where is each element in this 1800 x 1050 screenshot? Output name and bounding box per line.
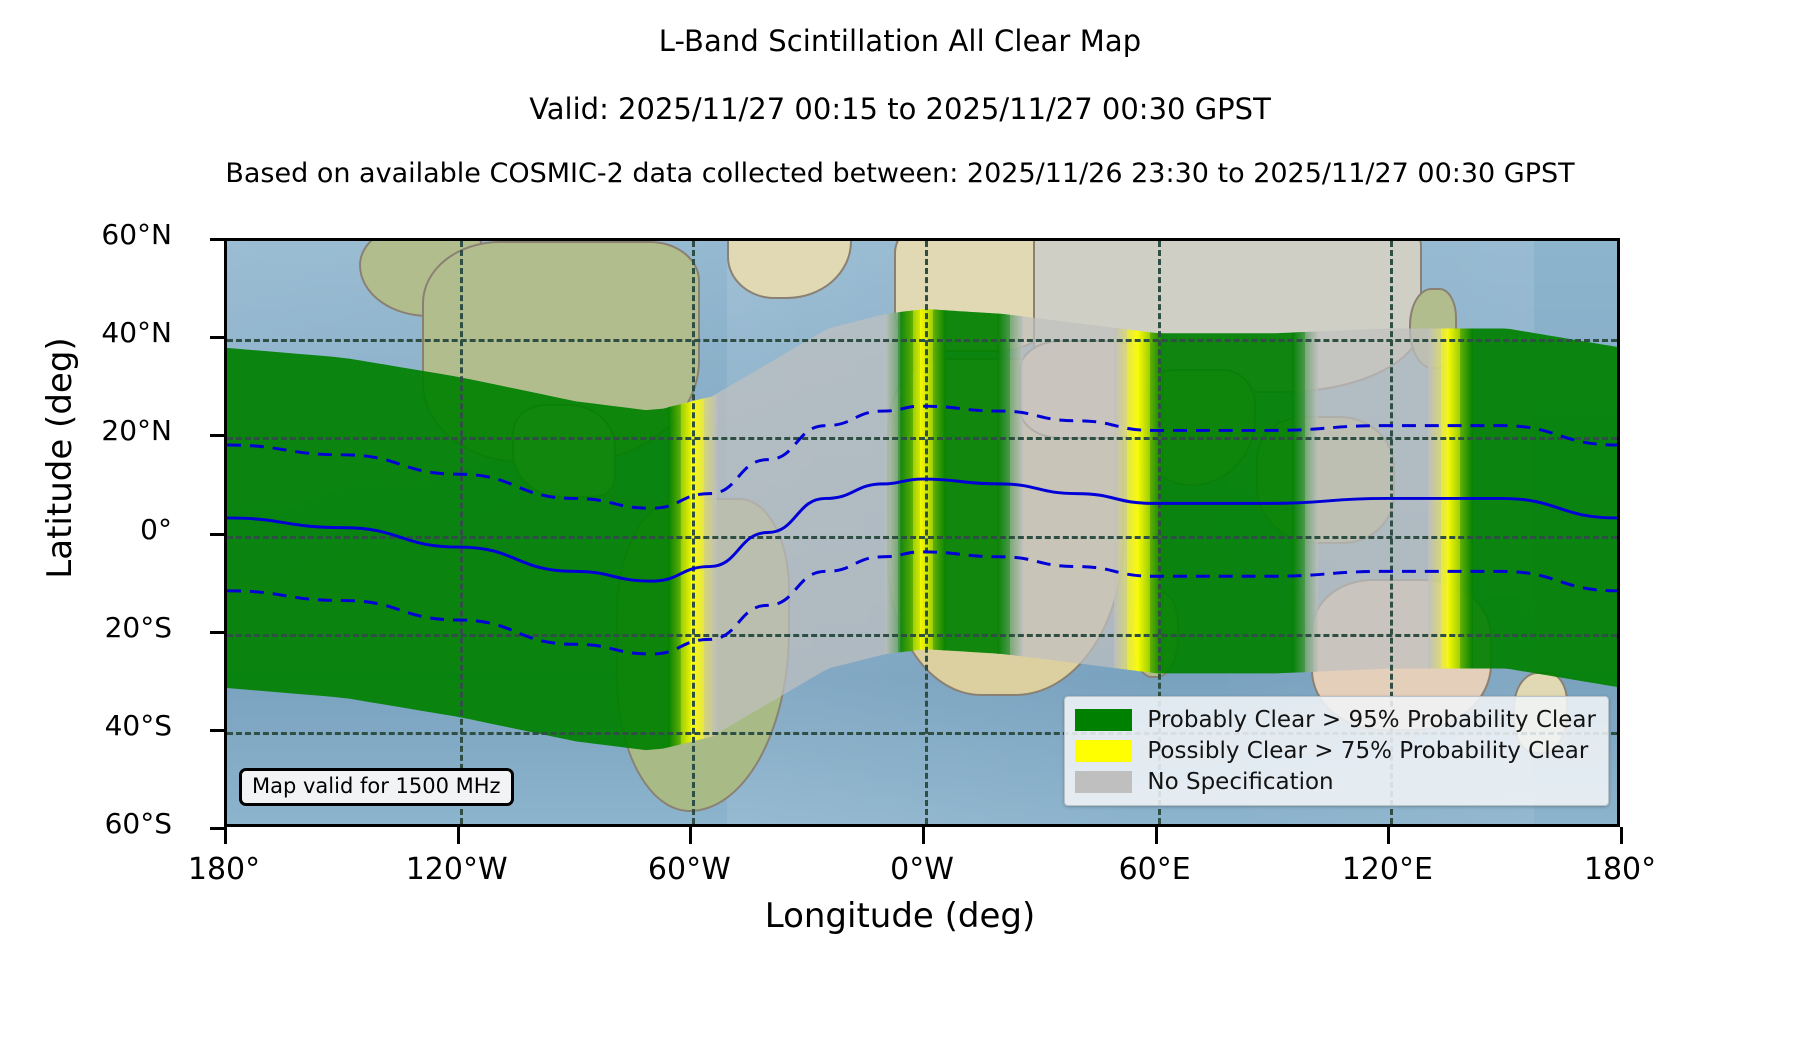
ticklabel-latitude: 40°S (0, 709, 196, 742)
tick-longitude (457, 827, 460, 844)
frequency-annotation-text: Map valid for 1500 MHz (252, 774, 501, 798)
ticklabel-latitude: 20°S (0, 611, 196, 644)
legend-item-probably-clear: Probably Clear > 95% Probability Clear (1075, 704, 1596, 735)
ticklabel-longitude: 0°W (792, 852, 1052, 887)
tick-longitude (689, 827, 692, 844)
ticklabel-latitude: 60°N (0, 218, 196, 251)
legend-label-no-specification: No Specification (1147, 769, 1333, 795)
ticklabel-latitude: 40°N (0, 316, 196, 349)
ticklabel-longitude: 60°W (559, 852, 819, 887)
ticklabel-latitude: 0° (0, 513, 196, 546)
ticklabel-longitude: 60°E (1025, 852, 1285, 887)
ticklabel-longitude: 180° (1490, 852, 1750, 887)
landmass-madagascar (1131, 591, 1180, 678)
x-axis-label: Longitude (deg) (0, 896, 1800, 936)
tick-longitude (1387, 827, 1390, 844)
validity-period: Valid: 2025/11/27 00:15 to 2025/11/27 00… (0, 92, 1800, 126)
legend-item-no-specification: No Specification (1075, 766, 1596, 797)
tick-longitude (224, 827, 227, 844)
landmass-japan (1409, 288, 1458, 370)
ticklabel-longitude: 180° (94, 852, 354, 887)
ticklabel-latitude: 20°N (0, 414, 196, 447)
ticklabel-longitude: 120°W (327, 852, 587, 887)
legend-label-probably-clear: Probably Clear > 95% Probability Clear (1147, 707, 1596, 733)
scintillation-map-plot[interactable]: Map valid for 1500 MHz Probably Clear > … (224, 238, 1620, 827)
legend-swatch-no-specification (1075, 771, 1132, 793)
tick-longitude (1155, 827, 1158, 844)
tick-longitude (922, 827, 925, 844)
ticklabel-longitude: 120°E (1257, 852, 1517, 887)
landmass-mexico (512, 404, 616, 497)
legend-swatch-possibly-clear (1075, 740, 1132, 762)
legend-label-possibly-clear: Possibly Clear > 75% Probability Clear (1147, 738, 1588, 764)
page-title: L-Band Scintillation All Clear Map (0, 24, 1800, 58)
legend: Probably Clear > 95% Probability ClearPo… (1064, 696, 1609, 806)
ticklabel-latitude: 60°S (0, 807, 196, 840)
landmass-middle-east (1019, 340, 1158, 439)
y-axis-label: Latitude (deg) (40, 258, 80, 658)
frequency-annotation-box: Map valid for 1500 MHz (239, 768, 514, 806)
tick-longitude (1620, 827, 1623, 844)
landmass-southeast-asia (1256, 416, 1395, 544)
data-source-note: Based on available COSMIC-2 data collect… (0, 158, 1800, 189)
legend-swatch-probably-clear (1075, 709, 1132, 731)
legend-item-possibly-clear: Possibly Clear > 75% Probability Clear (1075, 735, 1596, 766)
